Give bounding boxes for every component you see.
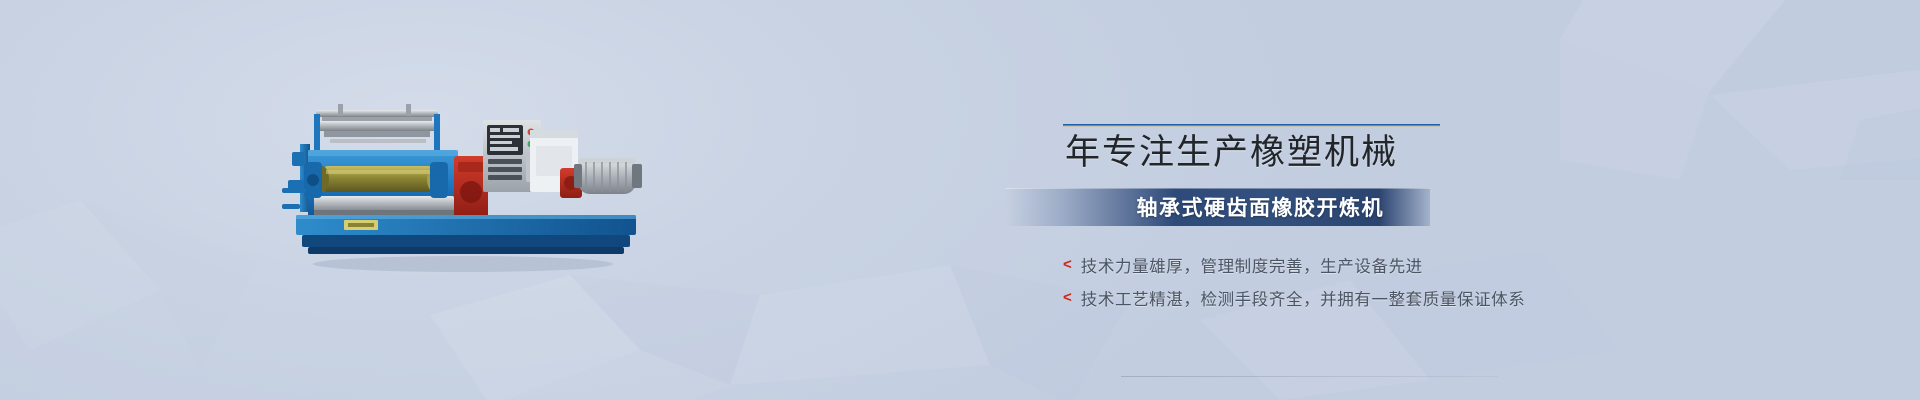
subtitle-bar: 轴承式硬齿面橡胶开炼机: [1005, 188, 1430, 226]
list-item: < 技术工艺精湛，检测手段齐全，并拥有一整套质量保证体系: [1063, 281, 1623, 314]
subtitle-text: 轴承式硬齿面橡胶开炼机: [1005, 188, 1430, 226]
headline-top-rule: [1063, 124, 1440, 127]
feature-list-bottom-rule: [1121, 376, 1498, 377]
page-title: 年专注生产橡塑机械: [1065, 132, 1398, 174]
list-item-label: 技术工艺精湛，检测手段齐全，并拥有一整套质量保证体系: [1081, 286, 1526, 310]
list-item-label: 技术力量雄厚，管理制度完善，生产设备先进: [1081, 253, 1423, 277]
hero-banner: 年专注生产橡塑机械 轴承式硬齿面橡胶开炼机 < 技术力量雄厚，管理制度完善，生产…: [0, 0, 1920, 400]
product-photo-rubber-mixing-mill: [278, 92, 648, 272]
feature-list: < 技术力量雄厚，管理制度完善，生产设备先进 < 技术工艺精湛，检测手段齐全，并…: [1063, 248, 1623, 314]
polygon-watermark-left: [0, 200, 320, 400]
list-item: < 技术力量雄厚，管理制度完善，生产设备先进: [1063, 248, 1623, 281]
chevron-left-marker-icon: <: [1063, 257, 1072, 272]
polygon-watermark-top-right: [1560, 0, 1920, 180]
chevron-left-marker-icon: <: [1063, 290, 1072, 305]
